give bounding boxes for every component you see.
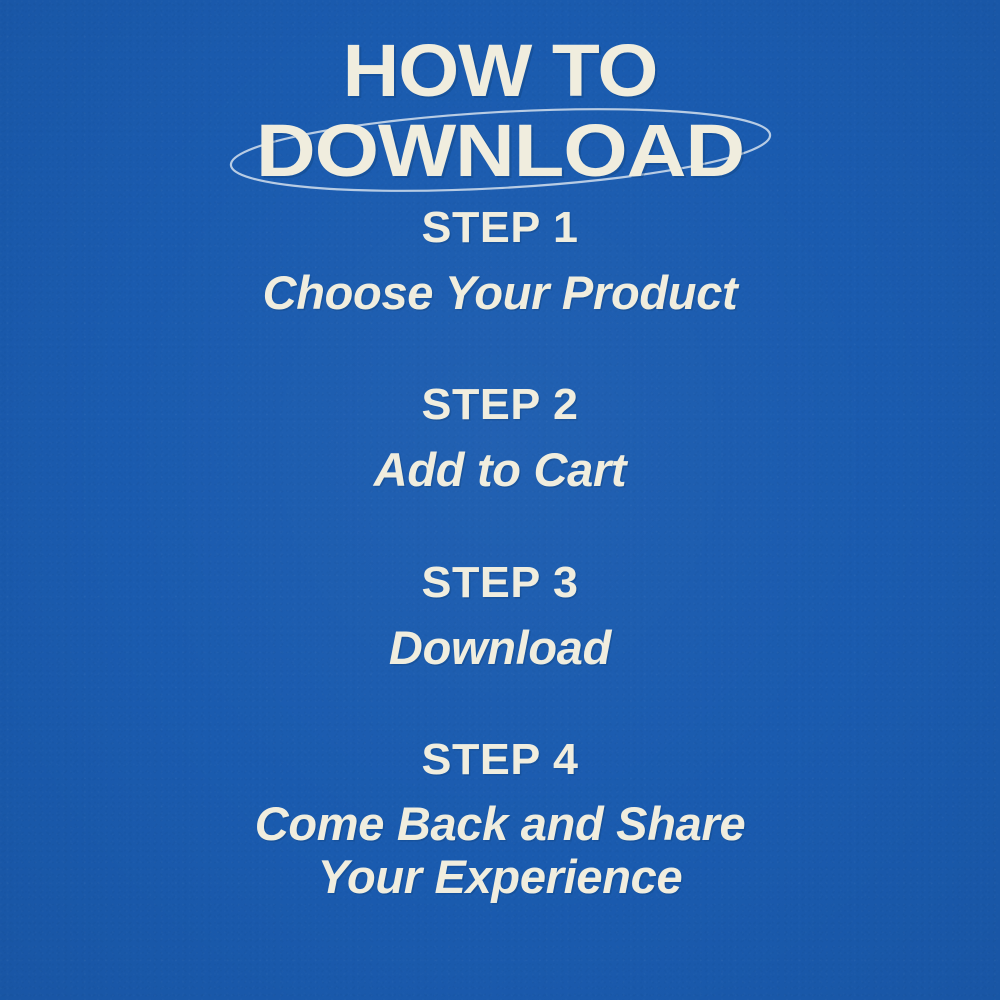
step-item-3: Step 3 Download: [0, 561, 1000, 676]
step-2-label: Step 2: [0, 383, 1000, 427]
step-1-label: Step 1: [0, 206, 1000, 250]
title-line-download: Download: [0, 114, 1000, 188]
step-list: Step 1 Choose Your Product Step 2 Add to…: [0, 206, 1000, 903]
step-1-title: Choose Your Product: [0, 264, 1000, 321]
step-2-title: Add to Cart: [0, 441, 1000, 498]
title-line-how-to: How To: [0, 34, 1000, 108]
step-3-title: Download: [0, 619, 1000, 676]
title-line-download-wrapper: Download: [0, 114, 1000, 184]
step-item-1: Step 1 Choose Your Product: [0, 206, 1000, 321]
poster-title: How To Download: [0, 34, 1000, 184]
step-item-4: Step 4 Come Back and Share Your Experien…: [0, 738, 1000, 903]
poster-canvas: How To Download Step 1 Choose Your Produ…: [0, 0, 1000, 1000]
step-3-label: Step 3: [0, 561, 1000, 605]
step-item-2: Step 2 Add to Cart: [0, 383, 1000, 498]
step-4-title: Come Back and Share Your Experience: [0, 798, 1000, 903]
step-4-label: Step 4: [0, 738, 1000, 782]
